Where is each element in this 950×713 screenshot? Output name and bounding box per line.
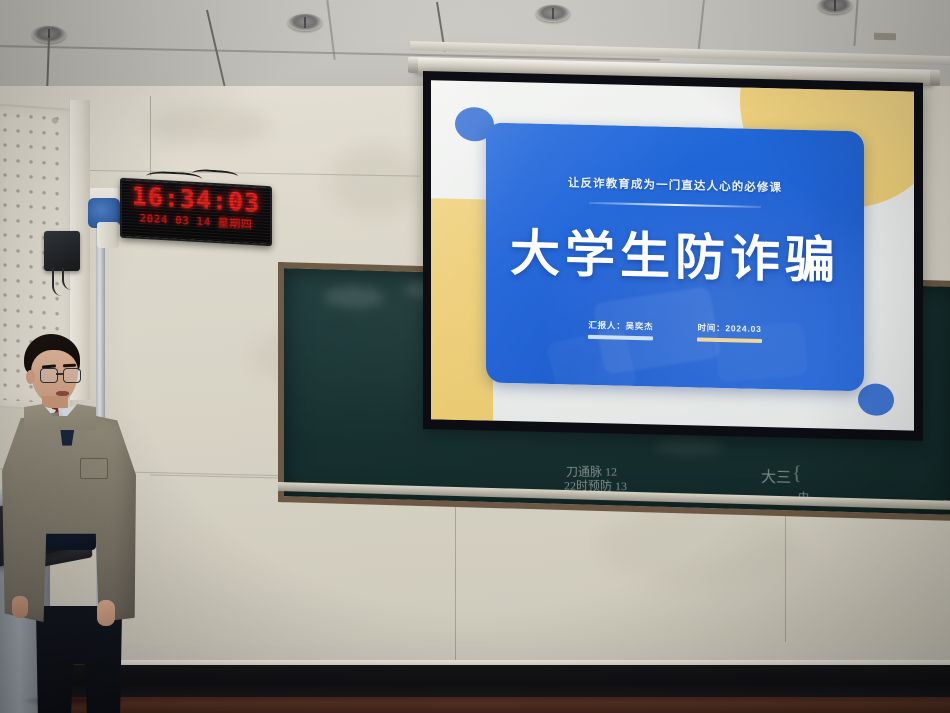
wall-stain	[150, 106, 270, 146]
presenter-ear	[26, 370, 35, 384]
ceiling-seam	[326, 0, 335, 60]
jacket-pocket	[80, 458, 108, 479]
slide-presenter: 汇报人：吴奕杰	[588, 319, 653, 341]
chalk-smudge	[654, 439, 724, 457]
glasses-icon	[40, 368, 81, 381]
wall-panel-seam	[150, 96, 151, 176]
decor-yellow-band	[431, 198, 493, 431]
ceiling-seam	[853, 0, 858, 46]
camera-neck	[97, 222, 119, 248]
classroom-photo: 16:34:03 2024 03 14 星期四 刀通脉 12 22时预防 13 …	[0, 0, 950, 713]
wall-camera-body	[44, 231, 80, 271]
slide-title: 大学生防诈骗	[486, 212, 864, 293]
slide-divider	[589, 202, 761, 208]
wall-panel-seam	[455, 506, 456, 662]
slide-date: 时间：2024.03	[697, 321, 761, 343]
date-label: 时间：2024.03	[697, 321, 761, 335]
presenter-label: 汇报人：吴奕杰	[588, 319, 653, 333]
rail-bracket	[874, 33, 896, 41]
ceiling-light-icon	[536, 5, 570, 22]
slide-subtitle: 让反诈教育成为一门直达人心的必修课	[486, 172, 864, 197]
chalk-smudge	[324, 285, 384, 309]
ceiling-seam	[697, 0, 704, 56]
presenter-hand	[97, 600, 115, 626]
wall-stain	[330, 146, 420, 216]
ceiling-light-icon	[288, 14, 322, 31]
camera-cable	[62, 268, 76, 290]
decor-blue-dot	[858, 383, 894, 416]
led-wall-clock: 16:34:03 2024 03 14 星期四	[120, 178, 272, 246]
presenter-hand	[12, 596, 28, 618]
screen-surface: 让反诈教育成为一门直达人心的必修课 大学生防诈骗 汇报人：吴奕杰 时间：2024…	[431, 80, 914, 430]
chalk-note: 大三	[761, 465, 791, 487]
roller-endcap	[930, 70, 940, 86]
slide-card: 让反诈教育成为一门直达人心的必修课 大学生防诈骗 汇报人：吴奕杰 时间：2024…	[486, 122, 864, 391]
roller-endcap	[408, 57, 418, 73]
panel-screw	[52, 117, 58, 123]
wall-stain	[600, 506, 800, 586]
projection-screen: 让反诈教育成为一门直达人心的必修课 大学生防诈骗 汇报人：吴奕杰 时间：2024…	[423, 71, 923, 441]
presenter	[0, 334, 150, 713]
